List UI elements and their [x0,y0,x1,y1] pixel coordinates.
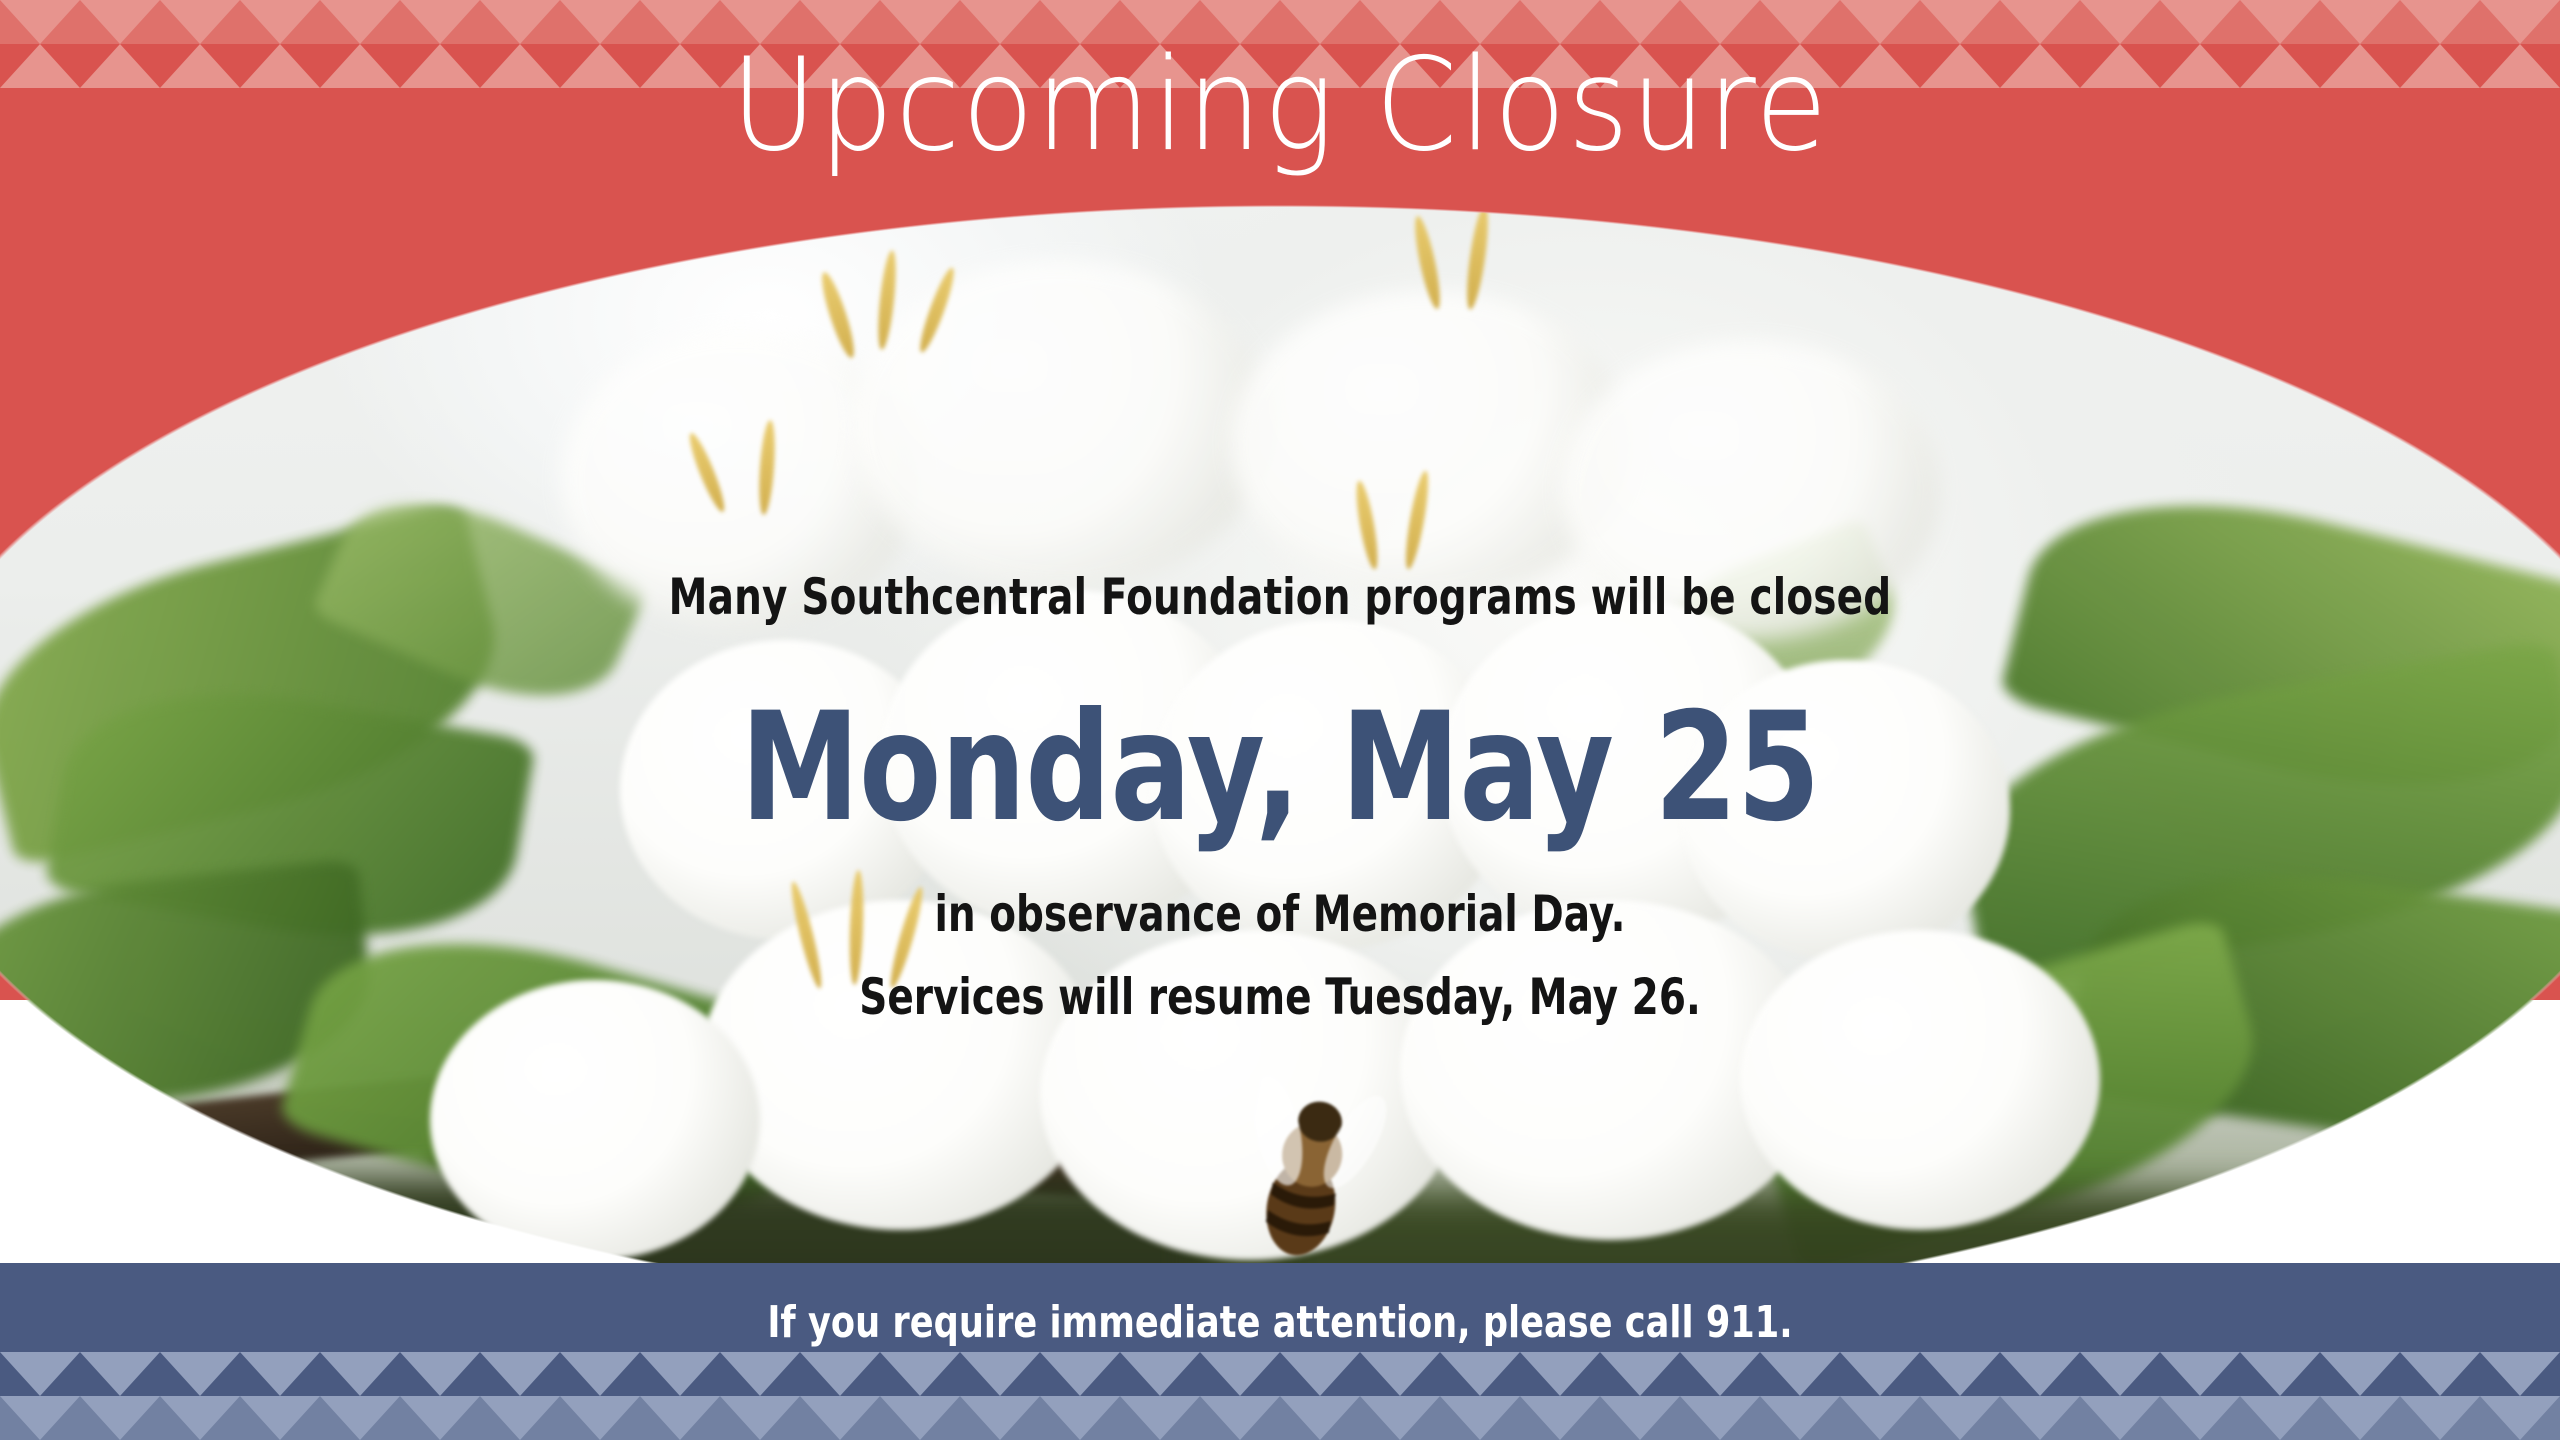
footer-triangle-pattern [0,1352,2560,1440]
closure-date: Monday, May 25 [256,690,2304,848]
closure-intro-line: Many Southcentral Foundation programs wi… [282,568,2279,626]
observance-line: in observance of Memorial Day. [282,885,2279,943]
triangle-row-upper-shapes [0,1352,2560,1396]
resume-line: Services will resume Tuesday, May 26. [282,968,2279,1026]
triangle-row-lower-shapes [0,1396,2560,1440]
page-title: Upcoming Closure [102,42,2457,170]
emergency-notice-text: If you require immediate attention, plea… [256,1297,2304,1348]
emergency-footer: If you require immediate attention, plea… [0,1263,2560,1440]
closure-announcement-banner: Upcoming Closure Many Southcentral Found… [0,0,2560,1440]
